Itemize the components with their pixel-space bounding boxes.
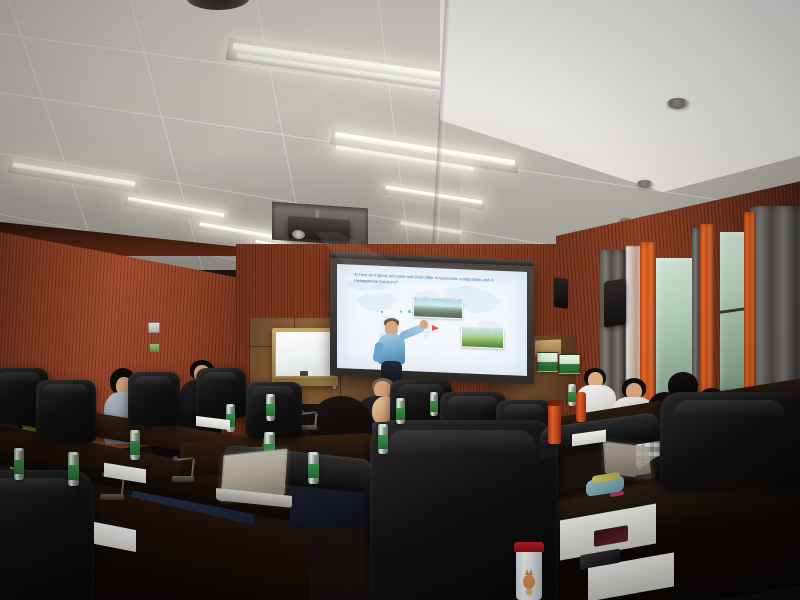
orange-thermos[interactable] — [576, 392, 586, 422]
water-bottle[interactable] — [430, 392, 438, 416]
wall-outlet-data[interactable] — [149, 343, 160, 352]
office-chair[interactable] — [196, 368, 246, 418]
tropical-field-photo — [461, 327, 505, 349]
wall-speaker — [604, 278, 626, 327]
wall-speaker — [554, 277, 568, 309]
water-bottle[interactable] — [14, 448, 24, 480]
ceiling-vent — [186, 0, 250, 10]
office-chair-foreground-right[interactable] — [660, 392, 800, 488]
water-bottle[interactable] — [396, 398, 405, 424]
downlight — [667, 98, 689, 109]
water-bottle[interactable] — [130, 430, 140, 460]
office-chair-left-foreground[interactable] — [0, 470, 94, 600]
orange-thermos[interactable] — [548, 404, 561, 444]
projection-screen: 4) How do tropical and polar soil biota … — [337, 264, 527, 376]
office-chair[interactable] — [128, 372, 180, 426]
green-box — [537, 352, 558, 372]
water-bottle[interactable] — [378, 424, 388, 454]
tumbler-lid[interactable] — [514, 542, 544, 552]
polar-coastal-photo — [413, 297, 463, 319]
conference-room-photo: 4) How do tropical and polar soil biota … — [0, 0, 800, 600]
presenter — [368, 318, 426, 384]
slide-bullet-dot — [400, 310, 402, 312]
whiteboard-eraser[interactable] — [300, 371, 308, 376]
whiteboard-leg — [333, 379, 336, 389]
wall-outlet[interactable] — [148, 322, 160, 333]
projector-lens-icon — [292, 230, 305, 240]
white-tumbler[interactable] — [516, 548, 542, 600]
water-bottle[interactable] — [568, 384, 576, 406]
water-bottle[interactable] — [68, 452, 79, 486]
slide-bullet-dot — [381, 311, 383, 313]
whiteboard-marker-tray — [274, 376, 336, 380]
downlight — [637, 180, 653, 188]
water-bottle[interactable] — [308, 452, 319, 484]
water-bottle[interactable] — [266, 394, 275, 421]
red-arrow-icon — [432, 325, 439, 331]
deer-illustration-icon — [516, 548, 542, 600]
thermos-lid — [548, 400, 561, 406]
office-chair[interactable] — [36, 380, 96, 442]
